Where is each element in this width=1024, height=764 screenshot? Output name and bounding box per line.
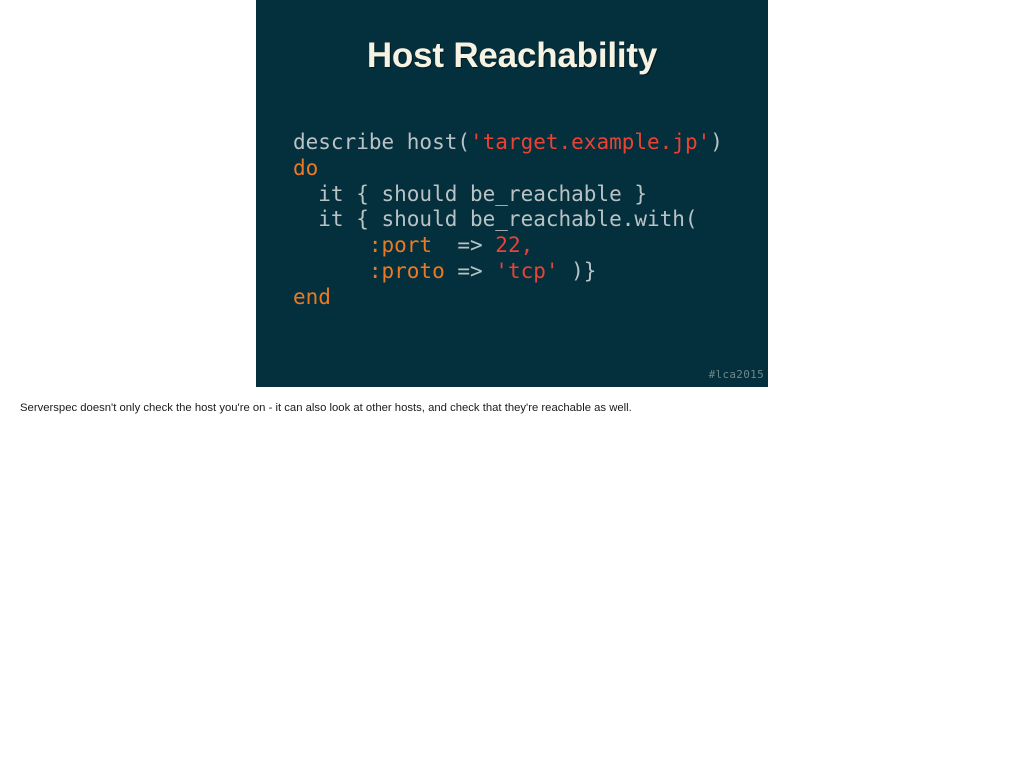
page-root: Host Reachability describe host('target.…	[0, 0, 1024, 764]
code-line: describe host('target.example.jp')	[293, 130, 743, 156]
code-token-plain: it { should be_reachable.with(	[293, 207, 698, 231]
code-token-plain	[293, 259, 369, 283]
code-token-str: 'tcp'	[495, 259, 558, 283]
code-token-sym: :proto	[369, 259, 445, 283]
code-block: describe host('target.example.jp')do it …	[293, 130, 743, 311]
code-line: end	[293, 285, 743, 311]
slide-title: Host Reachability	[256, 34, 768, 78]
code-token-plain: =>	[445, 259, 496, 283]
code-token-plain: describe host(	[293, 130, 470, 154]
code-line: it { should be_reachable.with(	[293, 207, 743, 233]
code-token-plain: it { should be_reachable }	[293, 182, 647, 206]
presentation-slide: Host Reachability describe host('target.…	[256, 0, 768, 387]
code-token-kw: end	[293, 285, 331, 309]
slide-caption: Serverspec doesn't only check the host y…	[20, 401, 1000, 416]
code-token-plain	[293, 233, 369, 257]
slide-footer-hashtag: #lca2015	[709, 368, 764, 382]
code-token-num: 22,	[495, 233, 533, 257]
code-token-sym: :port	[369, 233, 432, 257]
code-token-kw: do	[293, 156, 318, 180]
code-line: :port => 22,	[293, 233, 743, 259]
code-line: do	[293, 156, 743, 182]
code-line: it { should be_reachable }	[293, 182, 743, 208]
code-token-str: 'target.example.jp'	[470, 130, 710, 154]
code-token-plain: )	[710, 130, 723, 154]
code-token-plain: )}	[559, 259, 597, 283]
code-token-plain: =>	[432, 233, 495, 257]
code-line: :proto => 'tcp' )}	[293, 259, 743, 285]
